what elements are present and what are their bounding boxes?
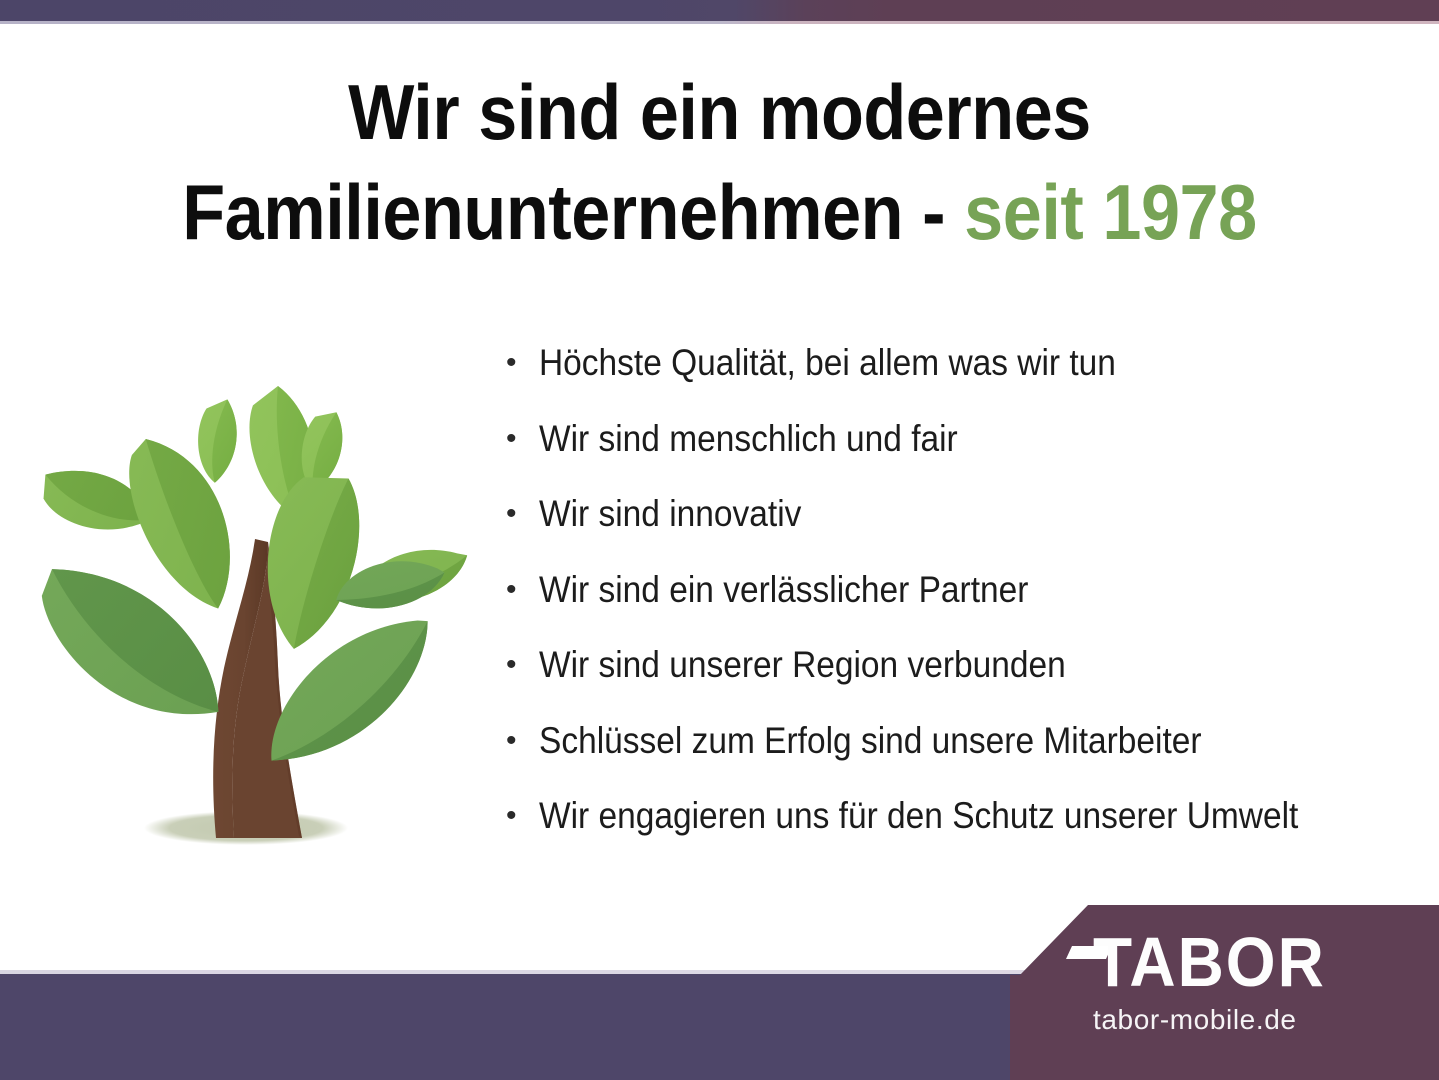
- brand-tagline: tabor-mobile.de: [1093, 1006, 1423, 1034]
- list-item: • Wir sind ein verlässlicher Partner: [506, 571, 1426, 647]
- bullet-point-icon: •: [506, 575, 539, 605]
- list-item-label: Wir sind unserer Region verbunden: [539, 646, 1066, 683]
- bullet-point-icon: •: [506, 726, 539, 756]
- slide-canvas: Wir sind ein modernes Familienunternehme…: [0, 0, 1439, 1080]
- bullet-point-icon: •: [506, 499, 539, 529]
- list-item-label: Wir engagieren uns für den Schutz unsere…: [539, 797, 1298, 834]
- list-item-label: Wir sind ein verlässlicher Partner: [539, 571, 1028, 608]
- list-item-label: Wir sind menschlich und fair: [539, 420, 958, 457]
- tree-logo-illustration: [28, 372, 498, 862]
- title-line-2-highlight: seit 1978: [964, 168, 1257, 256]
- bullet-point-icon: •: [506, 650, 539, 680]
- bullet-point-icon: •: [506, 801, 539, 831]
- bullet-point-icon: •: [506, 348, 539, 378]
- list-item: • Höchste Qualität, bei allem was wir tu…: [506, 344, 1426, 420]
- list-item-label: Wir sind innovativ: [539, 495, 801, 532]
- bullet-point-icon: •: [506, 424, 539, 454]
- title-line-2-black: Familienunternehmen -: [182, 168, 964, 256]
- top-decorative-bar: [0, 0, 1439, 21]
- tree-svg: [28, 372, 498, 862]
- list-item: • Schlüssel zum Erfolg sind unsere Mitar…: [506, 722, 1426, 798]
- bullet-list: • Höchste Qualität, bei allem was wir tu…: [506, 344, 1426, 873]
- brand-wordmark-text: TABOR: [1093, 927, 1326, 996]
- list-item: • Wir engagieren uns für den Schutz unse…: [506, 797, 1426, 873]
- list-item-label: Höchste Qualität, bei allem was wir tun: [539, 344, 1116, 381]
- page-title: Wir sind ein modernes Familienunternehme…: [0, 62, 1439, 262]
- list-item: • Wir sind innovativ: [506, 495, 1426, 571]
- list-item: • Wir sind menschlich und fair: [506, 420, 1426, 496]
- list-item: • Wir sind unserer Region verbunden: [506, 646, 1426, 722]
- list-item-label: Schlüssel zum Erfolg sind unsere Mitarbe…: [539, 722, 1202, 759]
- brand-logo: TABOR tabor-mobile.de: [1093, 930, 1423, 1034]
- title-line-2: Familienunternehmen - seit 1978: [72, 162, 1367, 262]
- brand-wordmark: TABOR: [1093, 930, 1423, 994]
- title-line-1: Wir sind ein modernes: [72, 62, 1367, 162]
- top-bar-highlight: [0, 21, 1439, 24]
